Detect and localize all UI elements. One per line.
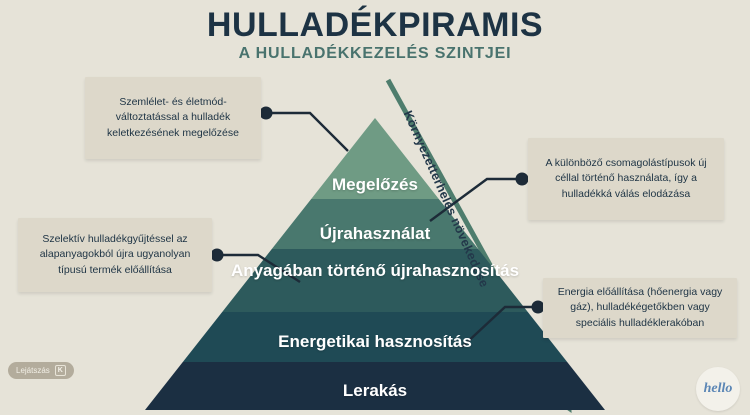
callout-energy: Energia előállítása (hőenergia vagy gáz)… (543, 278, 737, 338)
callout-reuse-text: Szelektív hulladékgyűjtéssel az alapanya… (28, 232, 202, 278)
hello-logo-text: hello (704, 381, 733, 397)
callout-prevention-text: Szemlélet- és életmód-változtatással a h… (95, 95, 251, 141)
callout-packaging-text: A különböző csomagolástípusok új céllal … (538, 156, 714, 202)
callout-prevention: Szemlélet- és életmód-változtatással a h… (85, 77, 261, 159)
hello-logo: hello (696, 367, 740, 411)
infographic-canvas: HULLADÉKPIRAMIS A HULLADÉKKEZELÉS SZINTJ… (0, 0, 750, 415)
play-shortcut-key: K (55, 365, 66, 376)
tier-band-5 (100, 362, 660, 415)
callout-energy-text: Energia előállítása (hőenergia vagy gáz)… (553, 285, 727, 331)
callout-reuse: Szelektív hulladékgyűjtéssel az alapanya… (18, 218, 212, 292)
callout-packaging: A különböző csomagolástípusok új céllal … (528, 138, 724, 220)
play-button[interactable]: Lejátszás K (8, 362, 74, 379)
play-button-label: Lejátszás (16, 366, 50, 375)
connector-prevention (260, 107, 349, 152)
